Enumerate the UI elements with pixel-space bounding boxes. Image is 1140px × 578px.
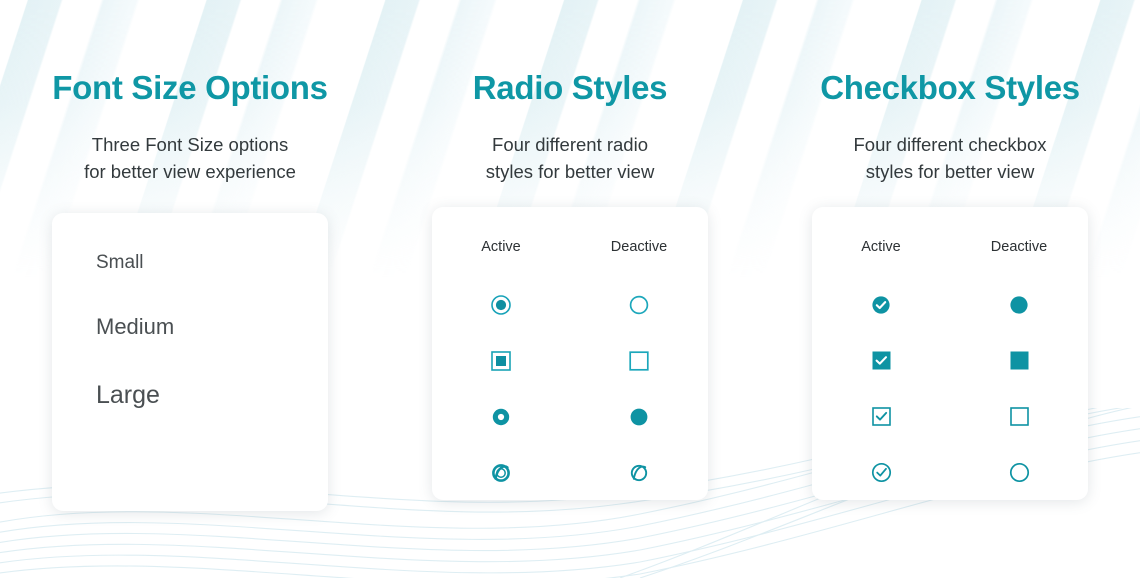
column-radio-styles: Radio Styles Four different radio styles…: [380, 0, 760, 511]
radio-row: [432, 277, 708, 333]
check-circle-outline-icon[interactable]: [812, 462, 950, 483]
subtitle-radio-styles: Four different radio styles for better v…: [420, 132, 720, 185]
radio-column-headers: Active Deactive: [432, 239, 708, 255]
square-filled-icon[interactable]: [950, 351, 1088, 370]
card-checkbox-styles: Active Deactive: [812, 207, 1088, 500]
radio-header-active: Active: [432, 239, 570, 255]
check-square-outline-icon[interactable]: [812, 407, 950, 426]
radio-row: [432, 445, 708, 501]
checkbox-row: [812, 389, 1088, 445]
page-root: Font Size Options Three Font Size option…: [0, 0, 1140, 578]
checkbox-row: [812, 333, 1088, 389]
font-size-option-large[interactable]: Large: [96, 383, 328, 408]
page-title-font-size-options: Font Size Options: [40, 0, 340, 106]
font-size-option-small[interactable]: Small: [96, 253, 328, 272]
radio-circle-empty-icon[interactable]: [570, 294, 708, 316]
page-title-radio-styles: Radio Styles: [420, 0, 720, 106]
checkbox-row: [812, 445, 1088, 501]
check-square-filled-icon[interactable]: [812, 351, 950, 370]
radio-square-empty-icon[interactable]: [570, 351, 708, 371]
page-title-checkbox-styles: Checkbox Styles: [800, 0, 1100, 106]
checkbox-column-headers: Active Deactive: [812, 239, 1088, 255]
radio-slashed-circle-outline-icon[interactable]: [570, 461, 708, 485]
radio-header-deactive: Deactive: [570, 239, 708, 255]
subtitle-font-size-options: Three Font Size options for better view …: [40, 132, 340, 185]
radio-rows: [432, 277, 708, 501]
columns-container: Font Size Options Three Font Size option…: [0, 0, 1140, 511]
column-checkbox-styles: Checkbox Styles Four different checkbox …: [760, 0, 1140, 511]
circle-filled-icon[interactable]: [950, 295, 1088, 315]
radio-square-filled-icon[interactable]: [432, 351, 570, 371]
column-font-size-options: Font Size Options Three Font Size option…: [0, 0, 380, 511]
check-circle-filled-icon[interactable]: [812, 295, 950, 315]
radio-donut-icon[interactable]: [432, 407, 570, 427]
checkbox-rows: [812, 277, 1088, 501]
card-radio-styles: Active Deactive: [432, 207, 708, 500]
radio-circle-dot-icon[interactable]: [432, 294, 570, 316]
radio-row: [432, 389, 708, 445]
radio-slashed-circle-filled-icon[interactable]: [432, 461, 570, 485]
radio-row: [432, 333, 708, 389]
subtitle-checkbox-styles: Four different checkbox styles for bette…: [800, 132, 1100, 185]
radio-circle-filled-icon[interactable]: [570, 407, 708, 427]
font-size-option-medium[interactable]: Medium: [96, 316, 328, 338]
checkbox-header-active: Active: [812, 239, 950, 255]
card-font-sizes: Small Medium Large: [52, 213, 328, 511]
circle-outline-icon[interactable]: [950, 462, 1088, 483]
checkbox-header-deactive: Deactive: [950, 239, 1088, 255]
checkbox-row: [812, 277, 1088, 333]
square-outline-icon[interactable]: [950, 407, 1088, 426]
